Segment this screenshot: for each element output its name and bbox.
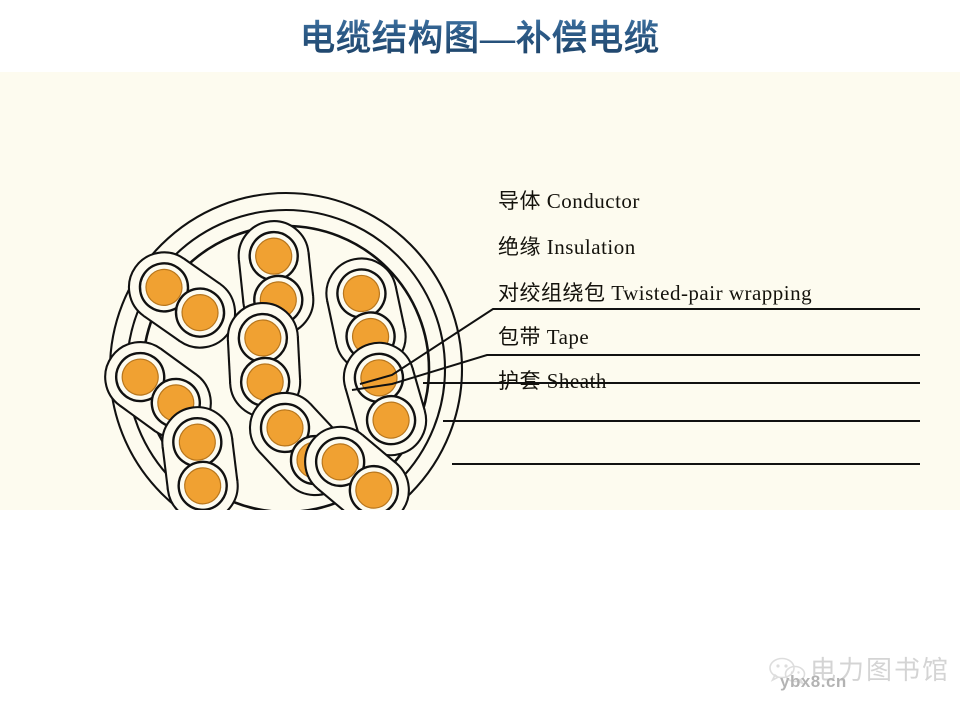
label-conductor-text: 导体 Conductor: [498, 189, 640, 213]
watermark: 电力图书馆 ybx8.cn: [768, 652, 954, 698]
label-sheath-text: 护套 Sheath: [498, 369, 607, 393]
figure-panel: 导体 Conductor 绝缘 Insulation 对绞组绕包 Twisted…: [0, 72, 960, 510]
watermark-url: ybx8.cn: [780, 672, 847, 692]
label-insulation-text: 绝缘 Insulation: [498, 235, 636, 259]
label-tape-text: 包带 Tape: [498, 325, 589, 349]
label-twisted-pair-wrapping-text: 对绞组绕包 Twisted-pair wrapping: [498, 281, 812, 305]
page-title: 电缆结构图—补偿电缆: [300, 10, 660, 61]
label-sheath: 护套 Sheath: [498, 365, 607, 395]
cable-cross-section-diagram: [0, 72, 960, 510]
label-twisted-pair-wrapping: 对绞组绕包 Twisted-pair wrapping: [498, 277, 812, 307]
slide-canvas: 电缆结构图—补偿电缆: [0, 0, 960, 720]
label-insulation: 绝缘 Insulation: [498, 231, 636, 261]
label-tape: 包带 Tape: [498, 321, 589, 351]
title-bar: 电缆结构图—补偿电缆: [0, 0, 960, 70]
label-conductor: 导体 Conductor: [498, 185, 640, 215]
